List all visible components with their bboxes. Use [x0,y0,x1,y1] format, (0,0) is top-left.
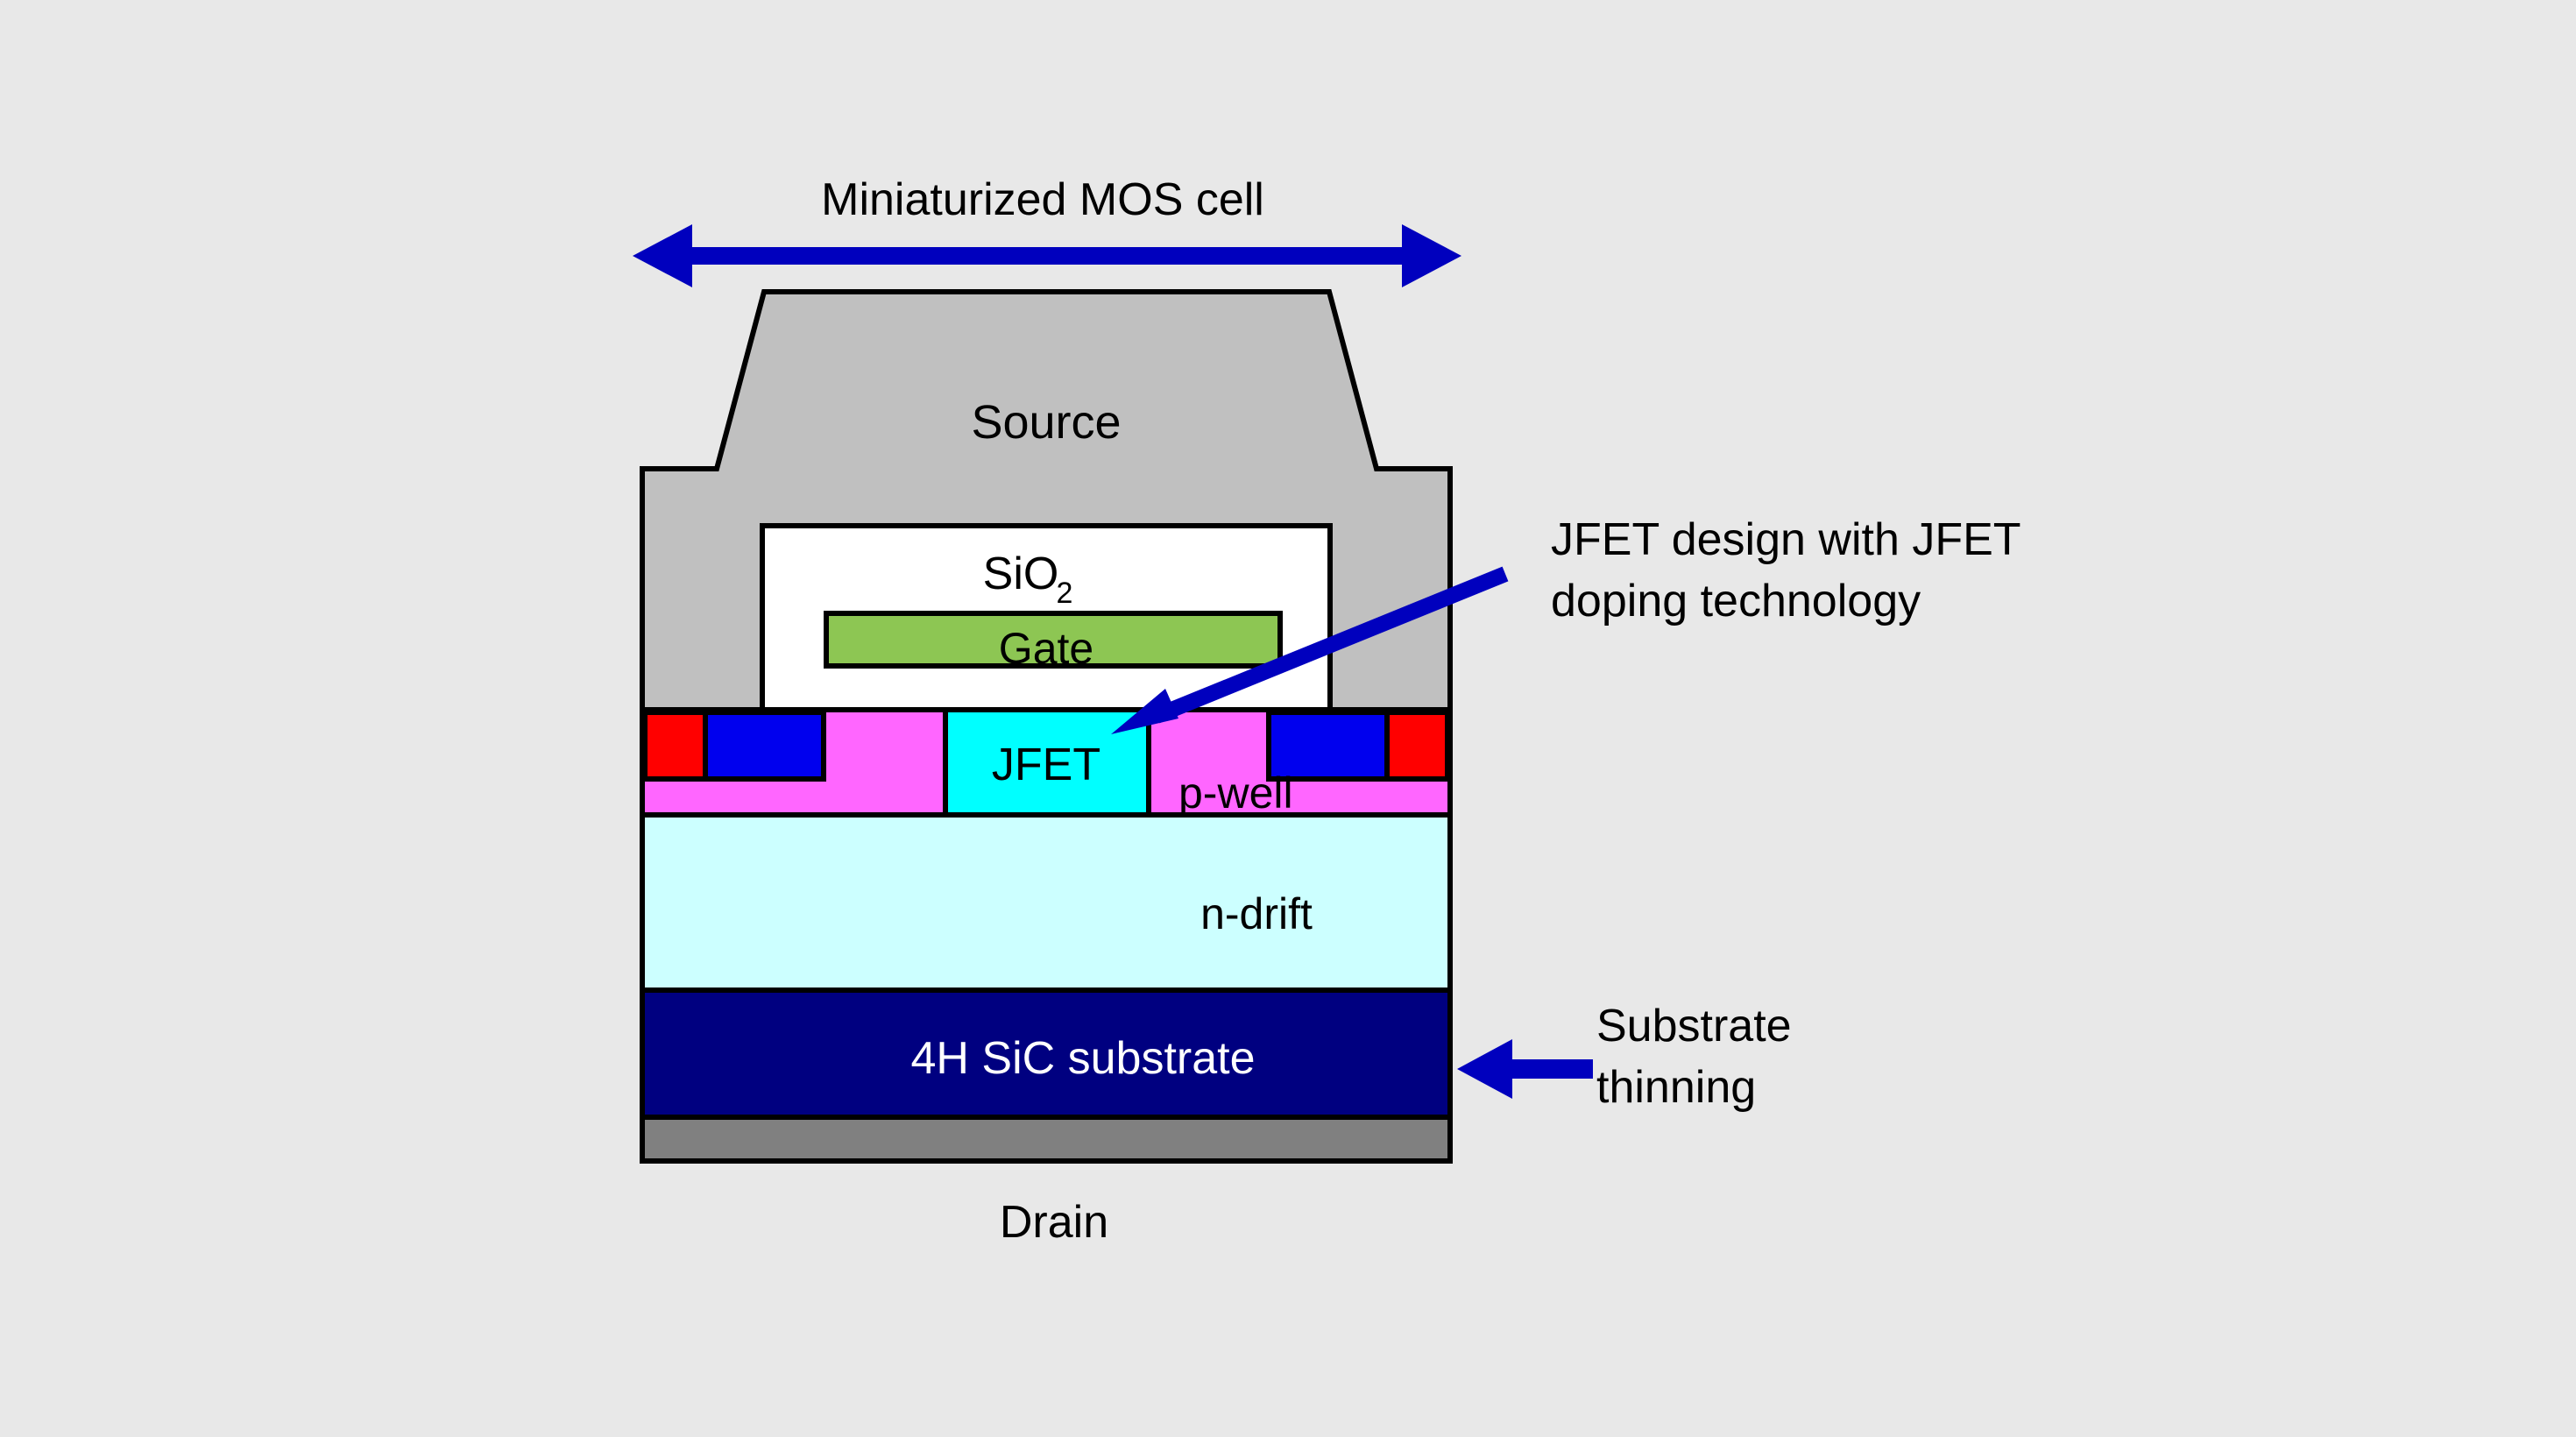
region-n-plus-source-left [705,712,824,779]
label-miniaturized-mos-cell: Miniaturized MOS cell [821,174,1264,225]
mosfet-cross-section-diagram: Source SiO 2 Gate JFET p-well n-drift 4H… [0,0,2576,1437]
layer-drain-metal [642,1117,1450,1161]
callout-substrate-line2: thinning [1596,1062,1756,1113]
substrate-callout-arrow-icon [1457,1039,1593,1099]
svg-text:2: 2 [1057,577,1073,610]
label-source: Source [971,396,1121,449]
label-jfet: JFET [992,740,1100,790]
region-p-plus-contact-left [645,712,705,779]
double-arrow-icon [633,224,1461,287]
figure-canvas: Source SiO 2 Gate JFET p-well n-drift 4H… [0,0,2576,1437]
label-gate: Gate [999,624,1093,673]
callout-jfet-line2: doping technology [1551,576,1921,626]
layer-n-drift [642,815,1450,990]
label-p-well: p-well [1178,768,1293,818]
label-n-drift: n-drift [1200,889,1313,938]
callout-jfet-line1: JFET design with JFET [1551,514,2021,565]
svg-text:SiO: SiO [983,549,1059,599]
label-substrate: 4H SiC substrate [910,1033,1255,1084]
label-drain: Drain [1000,1197,1108,1248]
callout-substrate-line1: Substrate [1596,1001,1792,1051]
region-p-plus-contact-right [1387,712,1447,779]
